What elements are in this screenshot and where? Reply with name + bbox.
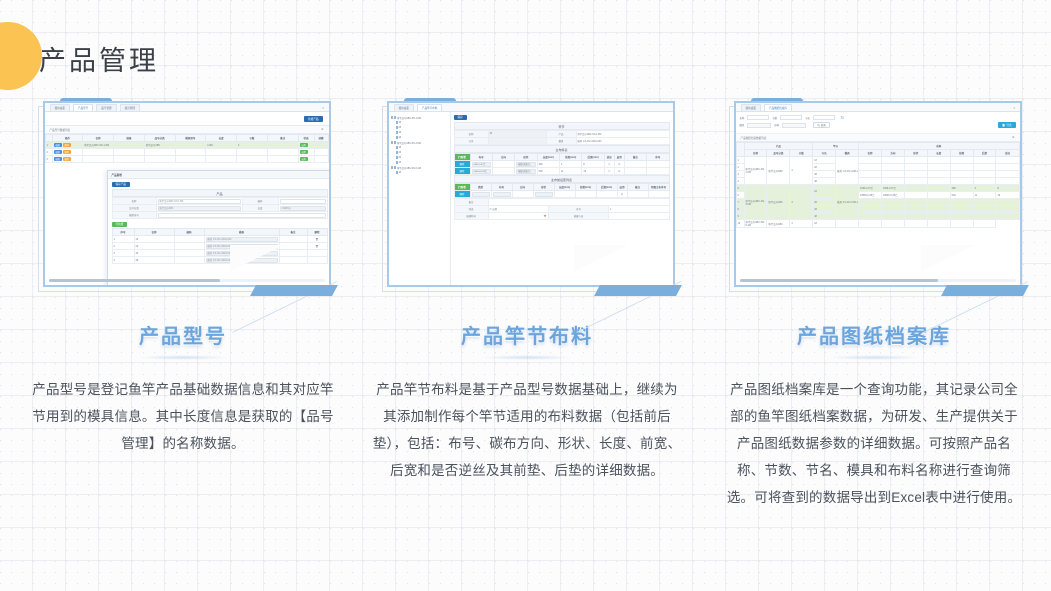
frame-inner-border: 我的桌面 产品型号 品号管理 模具管理 × 新增产品 产品型号数据列表 bbox=[43, 101, 331, 287]
f-label: 状态 bbox=[454, 206, 488, 213]
form-row: 名称 1# 产品 鱼竿品号ABC-SN-1.8M bbox=[454, 131, 669, 138]
shot3-tab-desktop[interactable]: 我的桌面 bbox=[741, 104, 761, 111]
table-row[interactable]: 2 编辑 删除 启用 bbox=[45, 149, 328, 156]
table-row[interactable]: 3 3# 模具 1.8-4N-1.8M-1200 bbox=[112, 250, 327, 257]
file-icon bbox=[396, 121, 398, 124]
row-len: 1.8M bbox=[206, 142, 237, 149]
main-fabric-table: 行新增 布号 方向 形状 长度(mm) 前宽(mm) 后宽(mm) 逆丝 启用 bbox=[454, 153, 670, 175]
select-mold[interactable] bbox=[747, 123, 771, 128]
refresh-icon[interactable]: ↻ bbox=[841, 115, 844, 120]
shot1-table: 操作 名称 规格 品号分类 模具型号 长度 节数 备注 状态 创建 bbox=[45, 134, 329, 163]
file-icon bbox=[396, 161, 398, 164]
checkbox[interactable]: ☐ bbox=[604, 161, 614, 168]
table-row[interactable]: 4 4# 模具 1.8-4N-1.8M-1200 bbox=[112, 257, 327, 264]
app-screenshot-3: 我的桌面 产品图纸档案库 × 名称 节数 bbox=[736, 103, 1020, 285]
frame-inner-border: 我的桌面 产品图纸档案库 × 名称 节数 bbox=[734, 101, 1022, 287]
f-value[interactable] bbox=[278, 198, 327, 205]
modal-body: 保存产品 产品 名称 鱼竿品号ABC-SN-1.8M 编码 bbox=[108, 179, 329, 267]
f-label: 创建时间 bbox=[454, 213, 488, 220]
f-label: 模具 bbox=[546, 138, 576, 145]
expand-icon bbox=[391, 141, 394, 144]
product-edit-modal: 产品新增 保存产品 产品 名称 鱼竿品号ABC bbox=[107, 170, 329, 285]
q-label-fabric: 布料 bbox=[774, 123, 779, 127]
knot-form-table: 名称 1# 产品 鱼竿品号ABC-SN-1.8M 节序 模具 bbox=[454, 130, 670, 145]
f-label: 名称 bbox=[454, 131, 488, 138]
row-no: 3 bbox=[45, 156, 52, 163]
q-label-knots: 节数 bbox=[772, 116, 777, 120]
row-actions[interactable]: 编辑 删除 bbox=[52, 142, 83, 149]
f-label: 模具序号 bbox=[112, 212, 156, 219]
shot3-content: 名称 节数 节名 ↻ 模具 bbox=[736, 112, 1020, 285]
sub-col-no: 序号 bbox=[112, 229, 134, 236]
folder-icon bbox=[394, 116, 396, 119]
section-title-main-fabric: 主布料表 bbox=[454, 145, 670, 153]
save-button[interactable]: 保存 bbox=[454, 115, 467, 120]
file-icon bbox=[396, 136, 398, 139]
export-button[interactable]: 📄 导出 bbox=[998, 122, 1015, 128]
table-header-row: 行新增 布号 方向 形状 长度(mm) 前宽(mm) 后宽(mm) 逆丝 启用 bbox=[454, 154, 669, 161]
shot3-section-header: 产品图纸档案数据列表 ⚙ bbox=[736, 134, 1020, 142]
form-row: 品号分类 鱼竿品号ABC 长度 1.8M/4节 bbox=[112, 205, 327, 212]
f-label: 编码 bbox=[242, 198, 278, 205]
col-status: 状态 bbox=[298, 135, 314, 142]
app-screenshot-1: 我的桌面 产品型号 品号管理 模具管理 × 新增产品 产品型号数据列表 bbox=[45, 103, 329, 285]
horizontal-scrollbar[interactable] bbox=[740, 279, 1016, 282]
q-label-knotname: 节名 bbox=[805, 116, 810, 120]
table-header-row: 序号 名称 编码 模具 备注 删除 bbox=[112, 229, 327, 236]
shot2-tab-desktop[interactable]: 我的桌面 bbox=[394, 104, 414, 111]
sub-col-code: 编码 bbox=[174, 229, 204, 236]
page-title: 产品管理 bbox=[39, 39, 159, 78]
gear-icon[interactable]: ⚙ bbox=[321, 128, 323, 131]
group-header-row: 产品 竿节 布料 bbox=[736, 143, 1019, 150]
shot1-section-header: 产品型号数据列表 ⚙ bbox=[45, 126, 329, 134]
title-shadow bbox=[828, 355, 920, 360]
table-header-row: 操作 名称 规格 品号分类 模具型号 长度 节数 备注 状态 创建 bbox=[45, 135, 328, 142]
section-title-knot: 竿节 bbox=[454, 122, 670, 130]
shot3-tab-archive[interactable]: 产品图纸档案库 bbox=[764, 104, 792, 111]
table-row[interactable]: 删除 ☑ bbox=[454, 191, 669, 198]
expand-icon bbox=[391, 166, 394, 169]
f-value[interactable] bbox=[156, 212, 327, 219]
select-fabric[interactable] bbox=[782, 123, 806, 128]
checkbox-checked[interactable]: ☑ bbox=[617, 191, 627, 198]
f-value[interactable]: 鱼竿品号ABC bbox=[156, 205, 242, 212]
calendar-icon[interactable]: 📅 bbox=[488, 213, 548, 220]
f-label: 序号 bbox=[548, 206, 608, 213]
frame-corner-bar bbox=[941, 285, 1029, 296]
col-created: 创建 bbox=[314, 135, 328, 142]
f-value[interactable] bbox=[609, 213, 669, 220]
shot2-main: 保存 竿节 名称 1# 产品 鱼竿品号ABC-SN-1.8M bbox=[451, 112, 673, 285]
save-product-button[interactable]: 保存产品 bbox=[112, 182, 130, 187]
f-value[interactable]: 1 bbox=[609, 206, 669, 213]
delete-row-button[interactable]: 删除 bbox=[454, 191, 470, 198]
f-value[interactable] bbox=[488, 199, 669, 206]
archive-table: 产品 竿节 布料 名称 品号分类 节数 节名 模具 bbox=[736, 142, 1020, 228]
sub-col-name: 名称 bbox=[134, 229, 174, 236]
query-row-2: 模具 布料 🔍 查询 📄 导出 bbox=[740, 122, 1016, 128]
frame-corner-bar bbox=[594, 285, 682, 296]
shot1-tab-product-model[interactable]: 产品型号 bbox=[73, 104, 93, 111]
modal-form-title: 产品 bbox=[112, 189, 328, 197]
col-name: 名称 bbox=[83, 135, 114, 142]
f-value[interactable]: ☑ 启用 bbox=[488, 206, 548, 213]
row-spec: 鱼竿品号ABC bbox=[144, 142, 175, 149]
table-row[interactable]: 1 鱼竿品号ABC-SN-1.8M 鱼竿品号ABC 4 1# 模具 1.8-4N… bbox=[736, 157, 1019, 164]
footer-form-table: 备注 状态 ☑ 启用 序号 1 bbox=[454, 198, 670, 220]
form-row: 状态 ☑ 启用 序号 1 bbox=[454, 206, 669, 213]
col-cat: 品号分类 bbox=[144, 135, 175, 142]
card-description: 产品图纸档案库是一个查询功能，其记录公司全部的鱼竿图纸档案数据，为研发、生产提供… bbox=[724, 376, 1024, 511]
search-input-name[interactable] bbox=[747, 115, 769, 120]
checkbox-checked[interactable]: ☑ bbox=[614, 161, 624, 168]
query-bar: 名称 节数 节名 ↻ 模具 bbox=[736, 112, 1020, 134]
f-value[interactable]: 1# bbox=[488, 131, 546, 138]
table-row[interactable]: 5 鱼竿品号ABC-SN-3.6M 鱼竿品号ABC 4 1# 模具 3.6-4N… bbox=[736, 185, 1019, 192]
row-actions[interactable]: 编辑 删除 bbox=[52, 149, 83, 156]
status-badge: 启用 bbox=[298, 156, 314, 163]
f-label: 备注 bbox=[454, 199, 488, 206]
sub-col-mold: 模具 bbox=[204, 229, 279, 236]
status-badge: 启用 bbox=[298, 149, 314, 156]
shot1-toolbar: 新增产品 bbox=[45, 112, 329, 126]
shot3-section-label: 产品图纸档案数据列表 bbox=[741, 136, 767, 140]
expand-icon bbox=[391, 116, 394, 119]
group-fabric: 布料 bbox=[859, 143, 1019, 150]
file-icon bbox=[396, 131, 398, 134]
delete-row-button[interactable]: 删除 bbox=[454, 168, 470, 175]
q-label-mold: 模具 bbox=[740, 123, 745, 127]
decorative-circle bbox=[0, 22, 42, 90]
shot2-tab-fabric[interactable]: 产品竿节布料 bbox=[417, 104, 443, 111]
form-row: 备注 bbox=[454, 199, 669, 206]
folder-icon bbox=[394, 166, 396, 169]
frame-corner-bar bbox=[250, 285, 338, 296]
file-icon bbox=[396, 126, 398, 129]
f-label: 节序 bbox=[454, 138, 488, 145]
f-value[interactable]: 鱼竿品号ABC-SN-1.8M bbox=[156, 198, 242, 205]
f-label: 产品 bbox=[546, 131, 576, 138]
card-description: 产品竿节布料是基于产品型号数据基础上，继续为其添加制作每个竿节适用的布料数据（包… bbox=[372, 376, 682, 484]
group-knot: 竿节 bbox=[813, 143, 859, 150]
table-row[interactable]: 1 1# 模具 1.8-4N-1.8M-1200 🗑 bbox=[112, 236, 327, 243]
pads-table: 行新增 类型 布号 方向 形状 长度(mm) 前宽(mm) 后宽(mm) 启用 bbox=[454, 183, 670, 198]
checkbox-checked[interactable]: ☑ bbox=[614, 168, 624, 175]
table-row[interactable]: 删除 24500-0.28乙 梯形(前宽大) 500 11 19 ☐ ☑ bbox=[454, 168, 669, 175]
shot3-tabbar: 我的桌面 产品图纸档案库 × bbox=[736, 103, 1020, 112]
form-row: 模具序号 bbox=[112, 212, 327, 219]
checkbox[interactable]: ☐ bbox=[604, 168, 614, 175]
card-drawing-archive: 我的桌面 产品图纸档案库 × 名称 节数 bbox=[699, 98, 1049, 511]
table-row[interactable]: 10 鱼竿品号ABC-SN-5.4M 鱼竿品号ABC 4 1# bbox=[736, 220, 1019, 228]
file-icon bbox=[396, 156, 398, 159]
f-label: 品号分类 bbox=[112, 205, 156, 212]
shot1-tab-mold-mgmt[interactable]: 模具管理 bbox=[120, 104, 140, 111]
row-knots: 4 bbox=[237, 142, 268, 149]
add-row-button[interactable]: 行新增 bbox=[454, 184, 470, 191]
file-icon bbox=[396, 171, 398, 174]
add-row-button[interactable]: 行新增 bbox=[112, 222, 128, 227]
title-shadow bbox=[481, 355, 573, 360]
file-icon bbox=[396, 146, 398, 149]
row-no: 2 bbox=[45, 149, 52, 156]
card-title: 产品型号 bbox=[139, 320, 227, 349]
row-no: 1 bbox=[45, 142, 52, 149]
f-label: 名称 bbox=[112, 198, 156, 205]
query-row-1: 名称 节数 节名 ↻ bbox=[740, 115, 1016, 120]
sub-col-del: 删除 bbox=[307, 229, 327, 236]
title-shadow bbox=[137, 355, 229, 360]
folder-icon bbox=[394, 141, 396, 144]
horizontal-scrollbar[interactable] bbox=[49, 279, 325, 282]
f-value[interactable]: 鱼竿品号ABC-SN-1.8M bbox=[576, 131, 669, 138]
app-screenshot-2: 我的桌面 产品竿节布料 鱼竿品号ABC-SN-1.8M 1# 2# 3# 4# … bbox=[389, 103, 673, 285]
file-icon bbox=[396, 151, 398, 154]
f-value[interactable]: 1.8M/4节 bbox=[278, 205, 327, 212]
card-title: 产品竿节布料 bbox=[461, 320, 593, 349]
frame-inner-border: 我的桌面 产品竿节布料 鱼竿品号ABC-SN-1.8M 1# 2# 3# 4# … bbox=[387, 101, 675, 287]
card-product-model: 我的桌面 产品型号 品号管理 模具管理 × 新增产品 产品型号数据列表 bbox=[8, 98, 358, 511]
table-row[interactable]: 2 2# 模具 1.8-4N-1.8M-1200 🗑 bbox=[112, 243, 327, 250]
gear-icon[interactable]: ⚙ bbox=[1012, 136, 1014, 139]
screenshot-frame: 我的桌面 产品图纸档案库 × 名称 节数 bbox=[729, 98, 1028, 298]
shot1-content: 新增产品 产品型号数据列表 ⚙ 操作 名称 bbox=[45, 112, 329, 285]
form-row: 名称 鱼竿品号ABC-SN-1.8M 编码 bbox=[112, 198, 327, 205]
delete-row-button[interactable]: 删除 bbox=[454, 161, 470, 168]
col-len: 长度 bbox=[206, 135, 237, 142]
col-op: 操作 bbox=[52, 135, 83, 142]
q-label-name: 名称 bbox=[740, 116, 745, 120]
card-product-section-fabric: 我的桌面 产品竿节布料 鱼竿品号ABC-SN-1.8M 1# 2# 3# 4# … bbox=[352, 98, 702, 511]
col-mold: 模具型号 bbox=[175, 135, 206, 142]
tree-node[interactable]: 1# bbox=[391, 170, 448, 175]
col-spec: 规格 bbox=[114, 135, 145, 142]
search-input-knots[interactable] bbox=[780, 115, 802, 120]
add-product-button[interactable]: 新增产品 bbox=[304, 116, 322, 122]
col-remark: 备注 bbox=[267, 135, 298, 142]
group-product: 产品 bbox=[744, 143, 813, 150]
table-row[interactable]: 删除 3456-0.07乙 梯形(前宽大) 480 4 8 ☐ ☑ bbox=[454, 161, 669, 168]
section-title-pads: 主布前后垫列表 bbox=[454, 175, 670, 183]
f-label: 创建人员 bbox=[548, 213, 608, 220]
search-button[interactable]: 🔍 查询 bbox=[813, 122, 829, 128]
close-icon[interactable]: × bbox=[322, 106, 324, 110]
table-row[interactable]: 3 编辑 删除 启用 bbox=[45, 156, 328, 163]
shot1-section-label: 产品型号数据列表 bbox=[50, 128, 71, 132]
f-value[interactable] bbox=[488, 138, 546, 145]
slide-root: 产品管理 我的桌面 产品型号 品号管理 模具管理 × bbox=[0, 0, 1051, 591]
screenshot-frame: 我的桌面 产品竿节布料 鱼竿品号ABC-SN-1.8M 1# 2# 3# 4# … bbox=[382, 98, 681, 298]
search-input-knotname[interactable] bbox=[813, 115, 835, 120]
delete-icon[interactable]: 🗑 bbox=[307, 236, 327, 243]
modal-sub-table: 序号 名称 编码 模具 备注 删除 1 bbox=[112, 228, 328, 264]
form-row: 创建时间 📅 创建人员 bbox=[454, 213, 669, 220]
product-tree: 鱼竿品号ABC-SN-1.8M 1# 2# 3# 4# 鱼竿品号ABC-SN-3… bbox=[389, 112, 451, 285]
delete-icon[interactable]: 🗑 bbox=[307, 243, 327, 250]
add-row-button[interactable]: 行新增 bbox=[454, 154, 470, 161]
modal-header: 产品新增 bbox=[108, 171, 329, 179]
modal-form-table: 名称 鱼竿品号ABC-SN-1.8M 编码 品号分类 鱼竿品号ABC bbox=[112, 197, 328, 219]
close-icon[interactable]: × bbox=[1013, 106, 1015, 110]
f-value[interactable]: 模具 1.8-4N-1.8M-1200 bbox=[576, 138, 669, 145]
table-header-row: 行新增 类型 布号 方向 形状 长度(mm) 前宽(mm) 后宽(mm) 启用 bbox=[454, 184, 669, 191]
shot1-tab-item-mgmt[interactable]: 品号管理 bbox=[96, 104, 116, 111]
col-knots: 节数 bbox=[237, 135, 268, 142]
screenshot-frame: 我的桌面 产品型号 品号管理 模具管理 × 新增产品 产品型号数据列表 bbox=[38, 98, 337, 298]
shot1-tabbar: 我的桌面 产品型号 品号管理 模具管理 × bbox=[45, 103, 329, 112]
sub-col-remark: 备注 bbox=[279, 229, 307, 236]
card-description: 产品型号是登记鱼竿产品基础数据信息和其对应竿节用到的模具信息。其中长度信息是获取… bbox=[32, 376, 334, 457]
table-header-row: 名称 品号分类 节数 节名 模具 名称 方向 形状 长度 前宽 bbox=[736, 150, 1019, 157]
card-title: 产品图纸档案库 bbox=[797, 320, 951, 349]
row-name: 鱼竿品号ABC-SN-1.8M bbox=[83, 142, 114, 149]
cards-row: 我的桌面 产品型号 品号管理 模具管理 × 新增产品 产品型号数据列表 bbox=[0, 98, 1051, 511]
shot2-tabbar: 我的桌面 产品竿节布料 bbox=[389, 103, 673, 112]
table-row[interactable]: 1 编辑 删除 鱼竿品号ABC-SN-1.8M 鱼竿品号ABC 1.8M 4 bbox=[45, 142, 328, 149]
f-label: 长度 bbox=[242, 205, 278, 212]
status-badge: 启用 bbox=[298, 142, 314, 149]
form-row: 节序 模具 模具 1.8-4N-1.8M-1200 bbox=[454, 138, 669, 145]
row-actions[interactable]: 编辑 删除 bbox=[52, 156, 83, 163]
shot2-content: 鱼竿品号ABC-SN-1.8M 1# 2# 3# 4# 鱼竿品号ABC-SN-3… bbox=[389, 112, 673, 285]
shot1-tab-desktop[interactable]: 我的桌面 bbox=[50, 104, 70, 111]
